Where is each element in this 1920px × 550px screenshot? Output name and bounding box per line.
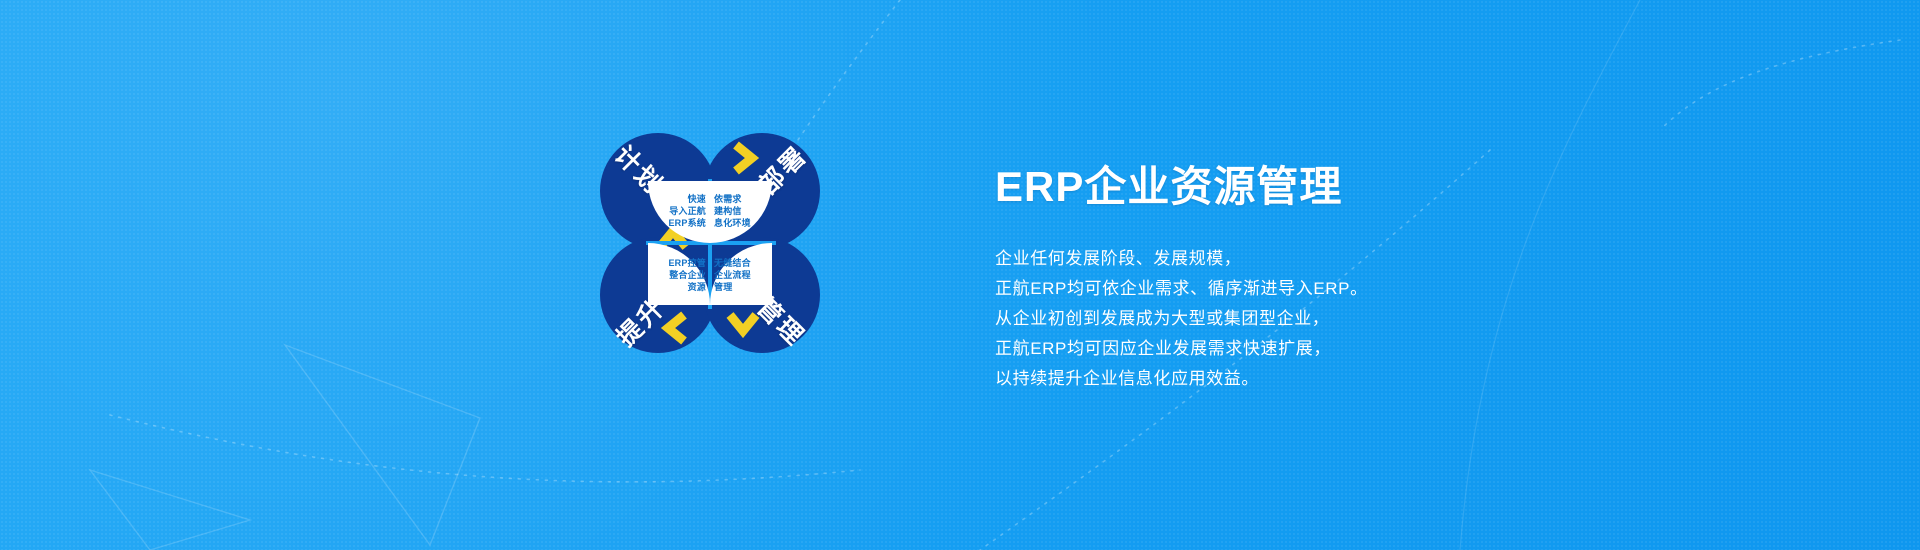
card-improve-line-3: 资源 [688, 281, 706, 293]
card-plan-line-1: 快速 [688, 193, 706, 205]
paragraph-line-4: 正航ERP均可因应企业发展需求快速扩展， [995, 334, 1755, 364]
card-manage-line-3: 管理 [714, 281, 732, 293]
card-manage-line-2: 企业流程 [714, 269, 751, 281]
card-deploy-line-3: 息化环境 [714, 217, 751, 229]
card-plan-line-3: ERP系统 [668, 217, 706, 229]
card-deploy-line-1: 依需求 [714, 193, 742, 205]
card-deploy-line-2: 建构信 [714, 205, 742, 217]
hero-paragraph: 企业任何发展阶段、发展规模， 正航ERP均可依企业需求、循序渐进导入ERP。 从… [995, 244, 1755, 394]
card-improve-line-2: 整合企业 [669, 269, 706, 281]
paragraph-line-1: 企业任何发展阶段、发展规模， [995, 244, 1755, 274]
paragraph-line-3: 从企业初创到发展成为大型或集团型企业， [995, 304, 1755, 334]
paragraph-line-5: 以持续提升企业信息化应用效益。 [995, 364, 1755, 394]
page-title: ERP企业资源管理 [995, 163, 1755, 211]
paragraph-line-2: 正航ERP均可依企业需求、循序渐进导入ERP。 [995, 274, 1755, 304]
card-plan-line-2: 导入正航 [669, 205, 706, 217]
hero-copy: ERP企业资源管理 企业任何发展阶段、发展规模， 正航ERP均可依企业需求、循序… [995, 163, 1755, 394]
card-improve-line-1: ERP控管 [668, 257, 706, 269]
erp-cycle-diagram: 计划 部署 提升 管理 快速 导入正航 ERP系统 依需求 建构信 息化环境 E… [600, 133, 820, 353]
erp-hero-banner: 计划 部署 提升 管理 快速 导入正航 ERP系统 依需求 建构信 息化环境 E… [0, 0, 1920, 550]
card-manage-line-1: 无缝结合 [714, 257, 751, 269]
